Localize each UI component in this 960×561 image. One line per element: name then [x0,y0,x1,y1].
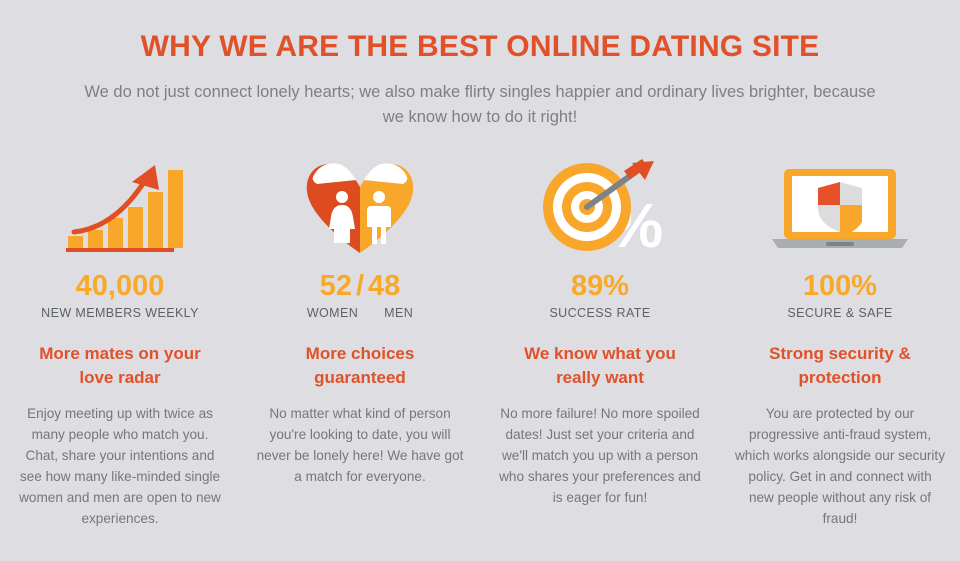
page-subtitle: We do not just connect lonely hearts; we… [75,80,885,130]
icon-container [254,154,466,259]
stat-value: 89% [571,269,629,303]
card-heading: More choices guaranteed [260,342,460,390]
card-body: You are protected by our progressive ant… [734,403,946,529]
feature-column-members: 40,000 NEW MEMBERS WEEKLY More mates on … [0,154,240,529]
icon-container: % [494,154,706,259]
feature-column-choices: 52/48 WOMEN MEN More choices guaranteed … [240,154,480,529]
icon-container [14,154,226,259]
card-body: No matter what kind of person you're loo… [254,403,466,487]
laptop-trackpad-icon [826,242,854,246]
stat-separator: / [352,270,368,302]
features-section: WHY WE ARE THE BEST ONLINE DATING SITE W… [0,0,960,561]
card-body: No more failure! No more spoiled dates! … [494,403,706,508]
stat-label: SECURE & SAFE [787,306,892,320]
target-arrow-percent-icon: % [532,159,668,255]
stat-label-men: MEN [384,306,413,320]
icon-container [734,154,946,259]
card-heading: We know what you really want [500,342,700,390]
laptop-shield-icon [766,159,914,255]
feature-columns: 40,000 NEW MEMBERS WEEKLY More mates on … [0,154,960,529]
growth-bar-chart-icon [60,159,180,255]
card-heading: Strong security & protection [740,342,940,390]
page-title: WHY WE ARE THE BEST ONLINE DATING SITE [0,26,960,68]
stat-value: 40,000 [76,269,165,303]
stat-label: NEW MEMBERS WEEKLY [41,306,199,320]
card-body: Enjoy meeting up with twice as many peop… [14,403,226,529]
stat-value-men: 48 [368,270,400,302]
split-heart-icon [301,159,419,255]
stat-label: WOMEN MEN [307,306,413,320]
stat-value-women: 52 [320,270,352,302]
stat-label-women: WOMEN [307,306,358,320]
stat-label: SUCCESS RATE [549,306,650,320]
feature-column-success: % 89% SUCCESS RATE We know what you real… [480,154,720,529]
stat-value: 100% [803,269,877,303]
stat-value: 52/48 [320,269,401,303]
card-heading: More mates on your love radar [20,342,220,390]
growth-arrow-icon [60,159,180,255]
feature-column-security: 100% SECURE & SAFE Strong security & pro… [720,154,960,529]
